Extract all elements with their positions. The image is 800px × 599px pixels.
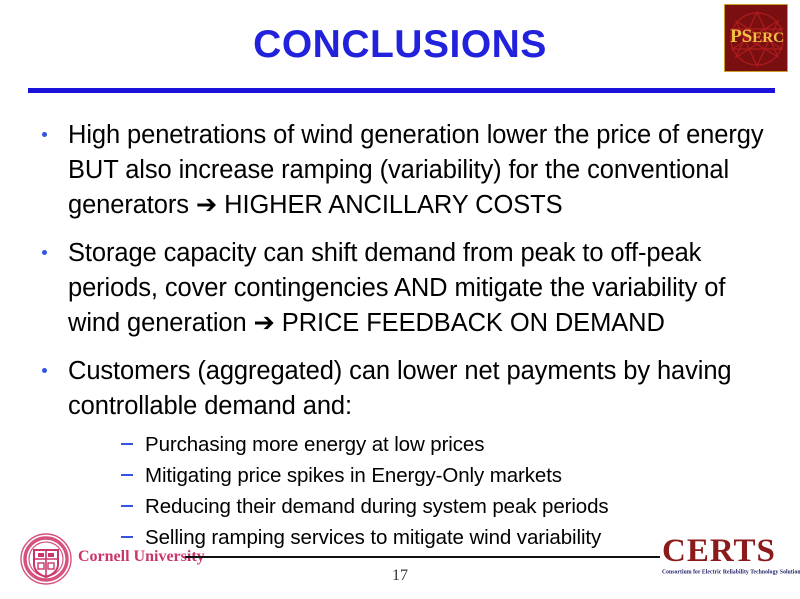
bullet-item: Customers (aggregated) can lower net pay… xyxy=(36,354,776,552)
pserc-wordmark: PSERC xyxy=(725,27,788,48)
dash-icon xyxy=(121,505,133,507)
bullet-dot-icon xyxy=(42,250,47,255)
pserc-erc: ERC xyxy=(752,30,784,46)
bullet-list: High penetrations of wind generation low… xyxy=(36,118,776,565)
bullet-dot-icon xyxy=(42,132,47,137)
bullet-item: High penetrations of wind generation low… xyxy=(36,118,776,223)
sub-bullet-text: Purchasing more energy at low prices xyxy=(145,430,776,459)
dash-icon xyxy=(121,536,133,538)
dash-icon xyxy=(121,474,133,476)
sub-bullet-item: Mitigating price spikes in Energy-Only m… xyxy=(121,461,776,490)
sub-bullet-text: Mitigating price spikes in Energy-Only m… xyxy=(145,461,776,490)
bullet-text: Storage capacity can shift demand from p… xyxy=(68,236,776,341)
dash-icon xyxy=(121,443,133,445)
certs-logo: CERTS Consortium for Electric Reliabilit… xyxy=(662,534,794,584)
bullet-text: Customers (aggregated) can lower net pay… xyxy=(68,354,776,424)
bullet-item: Storage capacity can shift demand from p… xyxy=(36,236,776,341)
sub-bullet-item: Purchasing more energy at low prices xyxy=(121,430,776,459)
pserc-ps: PS xyxy=(730,26,752,47)
sub-bullet-item: Reducing their demand during system peak… xyxy=(121,492,776,521)
certs-tagline: Consortium for Electric Reliability Tech… xyxy=(662,569,794,576)
pserc-logo: PSERC xyxy=(724,4,788,72)
bullet-dot-icon xyxy=(42,368,47,373)
certs-wordmark: CERTS xyxy=(662,534,794,568)
page-title: CONCLUSIONS xyxy=(0,22,800,68)
bullet-text: High penetrations of wind generation low… xyxy=(68,118,776,223)
footer-divider xyxy=(185,556,660,558)
slide-canvas: CONCLUSIONS PSERC High penetrations of w… xyxy=(0,0,800,599)
title-divider xyxy=(28,88,775,93)
sub-bullet-text: Reducing their demand during system peak… xyxy=(145,492,776,521)
